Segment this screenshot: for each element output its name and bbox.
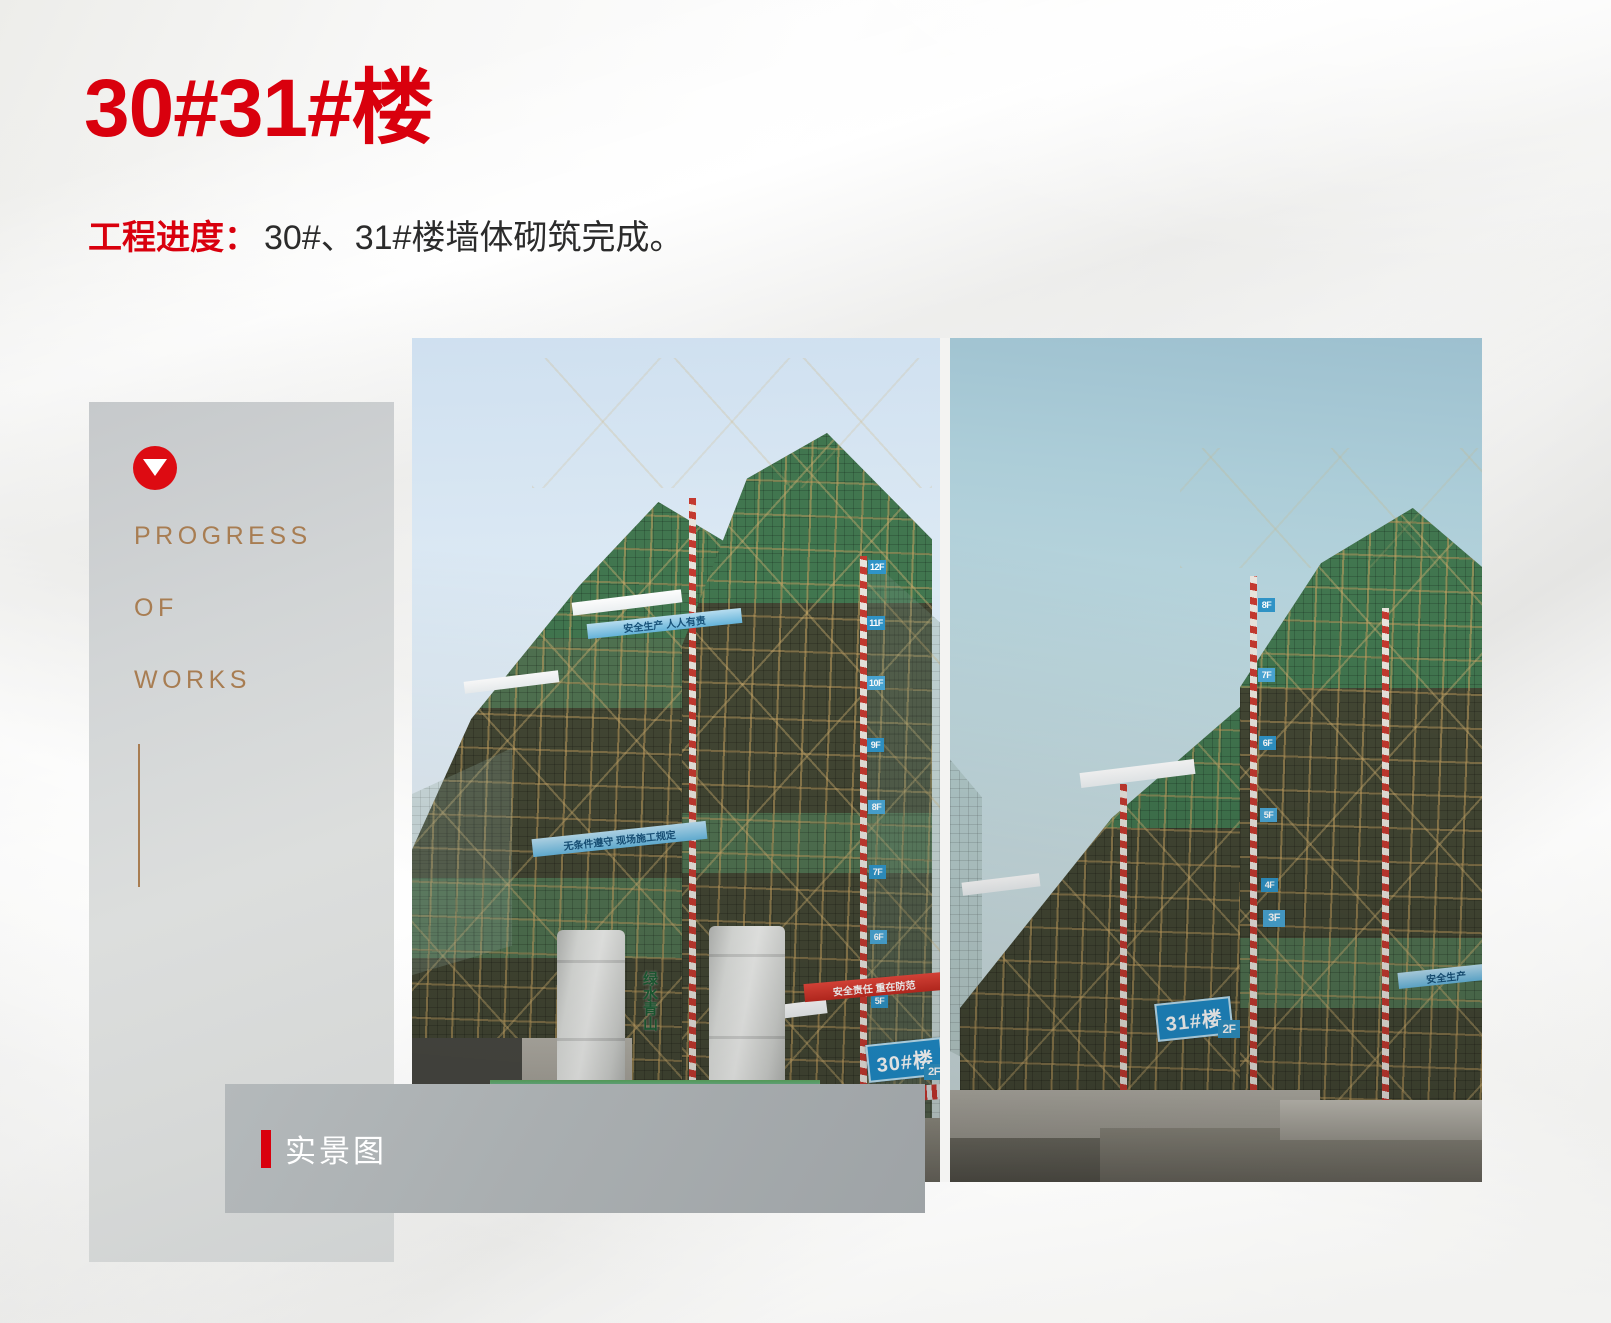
floor-sign-31-8f: 8F <box>1258 598 1275 612</box>
concrete-edge-31 <box>1280 1100 1482 1140</box>
site-photo-gallery: 12F 11F 10F 9F 8F 7F 6F 5F 4F 3F 安全生产 人人… <box>412 338 1482 1182</box>
progress-subtitle: 工程进度：30#、31#楼墙体砌筑完成。 <box>88 216 683 260</box>
floor-sign-10f: 10F <box>867 676 885 690</box>
floor-sign-31-3f: 3F <box>1263 910 1285 927</box>
site-photo-building-31[interactable]: 8F 7F 6F 5F 4F 3F 安全生产 31#楼 2F <box>950 338 1482 1182</box>
photo-caption-box: 实景图 <box>225 1084 925 1213</box>
scaffold-top-rail-31 <box>1180 448 1482 568</box>
floor-sign-12f: 12F <box>868 560 886 574</box>
triangle-down-icon <box>133 446 177 490</box>
progress-subtitle-body: 30#、31#楼墙体砌筑完成。 <box>264 219 683 257</box>
vertical-calligraphy-sign: 绿水青山 <box>634 946 660 1056</box>
panel-label-works: WORKS <box>134 666 251 695</box>
floor-sign-9f: 9F <box>867 738 884 752</box>
floor-sign-2f-right: 2F <box>1218 1020 1240 1038</box>
caption-accent-bar <box>261 1130 271 1168</box>
progress-subtitle-label: 工程进度： <box>88 219 258 257</box>
floor-sign-2f-left: 2F <box>924 1064 940 1080</box>
corner-pole-31-right <box>1382 608 1389 1182</box>
floor-sign-8f: 8F <box>868 800 885 814</box>
floor-sign-31-6f: 6F <box>1259 736 1276 750</box>
floor-sign-6f: 6F <box>870 930 887 944</box>
photo-gap <box>940 338 950 1182</box>
panel-label-of: OF <box>134 594 178 623</box>
panel-label-progress: PROGRESS <box>134 522 312 551</box>
panel-vertical-rule <box>138 744 140 887</box>
floor-sign-31-4f: 4F <box>1261 878 1278 892</box>
floor-sign-11f: 11F <box>867 616 885 630</box>
caption-label: 实景图 <box>285 1126 387 1171</box>
floor-sign-7f: 7F <box>869 865 886 879</box>
page-title: 30#31#楼 <box>84 66 433 152</box>
floor-sign-5f: 5F <box>871 994 888 1008</box>
site-photo-building-30[interactable]: 12F 11F 10F 9F 8F 7F 6F 5F 4F 3F 安全生产 人人… <box>412 338 940 1182</box>
photo-caption-inner: 实景图 <box>261 1126 387 1171</box>
triangle-down-glyph <box>143 459 167 476</box>
floor-sign-31-7f: 7F <box>1258 668 1275 682</box>
scaffold-top-poles <box>532 358 932 488</box>
floor-sign-31-5f: 5F <box>1260 808 1277 822</box>
